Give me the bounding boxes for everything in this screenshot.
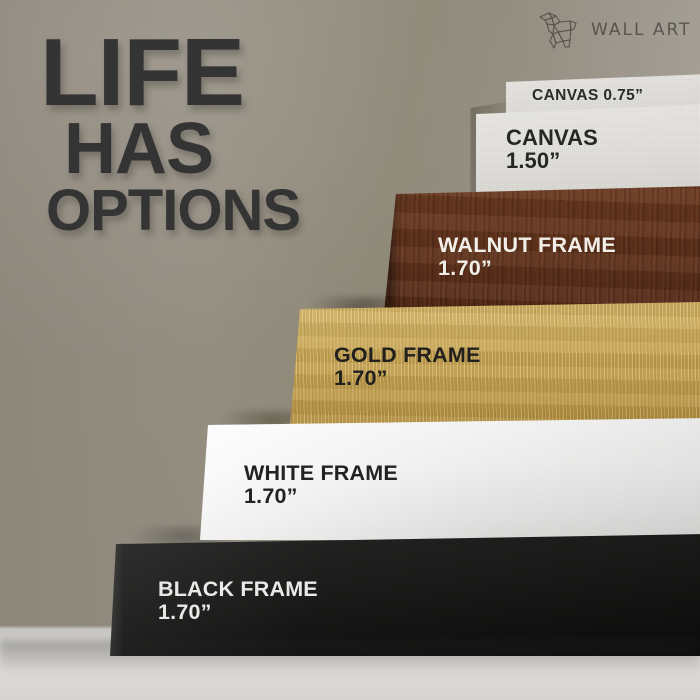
product-panel-gold-frame[interactable]: GOLD FRAME 1.70” xyxy=(290,302,700,426)
brand-logo: WALL ART xyxy=(536,10,691,50)
product-label-white-frame: WHITE FRAME 1.70” xyxy=(244,462,398,508)
page-title: LIFE HAS OPTIONS xyxy=(40,32,300,236)
origami-goat-icon xyxy=(536,10,582,50)
product-label-black-frame: BLACK FRAME 1.70” xyxy=(158,578,318,624)
product-panel-black-frame[interactable]: BLACK FRAME 1.70” xyxy=(110,534,700,656)
product-label-canvas-150: CANVAS 1.50” xyxy=(506,126,598,173)
product-label-walnut-frame: WALNUT FRAME 1.70” xyxy=(438,234,616,280)
product-options-mockup: LIFE HAS OPTIONS WALL ART CAN xyxy=(0,0,700,700)
brand-wordmark: WALL ART xyxy=(591,20,691,40)
product-label-canvas-075: CANVAS 0.75” xyxy=(532,88,643,104)
headline-line-1: LIFE xyxy=(40,32,300,115)
product-panel-walnut-frame[interactable]: WALNUT FRAME 1.70” xyxy=(384,186,700,314)
product-label-gold-frame: GOLD FRAME 1.70” xyxy=(334,344,481,390)
headline-line-3: OPTIONS xyxy=(46,186,300,236)
black-bevel-edge xyxy=(110,534,124,656)
product-panel-white-frame[interactable]: WHITE FRAME 1.70” xyxy=(200,418,700,540)
walnut-bevel-edge xyxy=(384,186,400,314)
headline-line-2: HAS xyxy=(64,119,300,181)
